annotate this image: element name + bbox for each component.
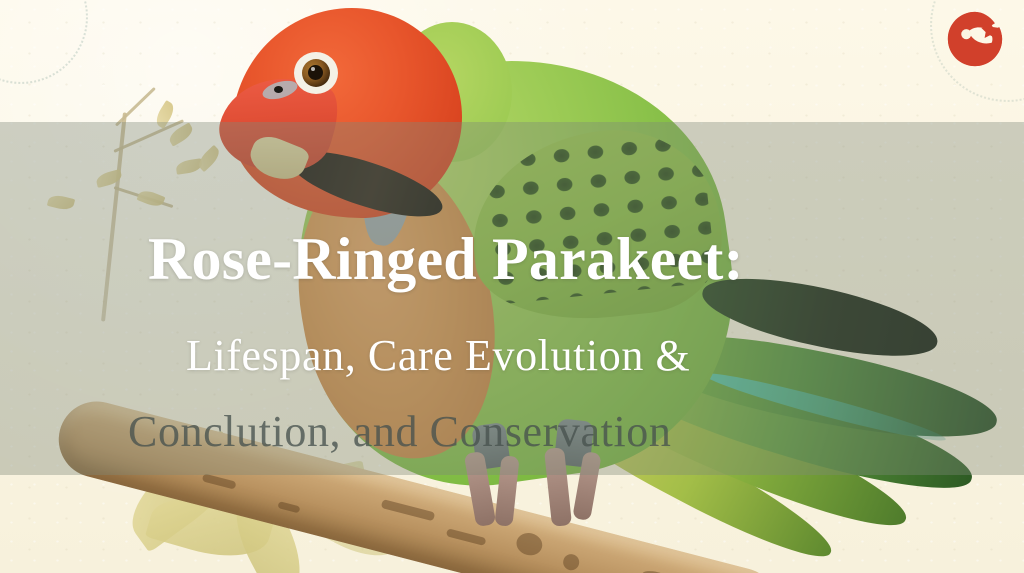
subtitle-line-2: Conclution, and Conservation bbox=[128, 406, 672, 457]
logo-eye-dot bbox=[961, 29, 971, 39]
page-title: Rose-Ringed Parakeet: bbox=[148, 228, 744, 291]
subtitle-line-1: Lifespan, Care Evolution & bbox=[186, 330, 690, 381]
crescent-bird-logo-glyph bbox=[948, 12, 1002, 66]
hero-banner: Rose-Ringed Parakeet: Lifespan, Care Evo… bbox=[0, 0, 1024, 573]
banner-text-block: Rose-Ringed Parakeet: Lifespan, Care Evo… bbox=[0, 0, 1024, 573]
crescent-bird-logo[interactable] bbox=[944, 8, 1006, 70]
